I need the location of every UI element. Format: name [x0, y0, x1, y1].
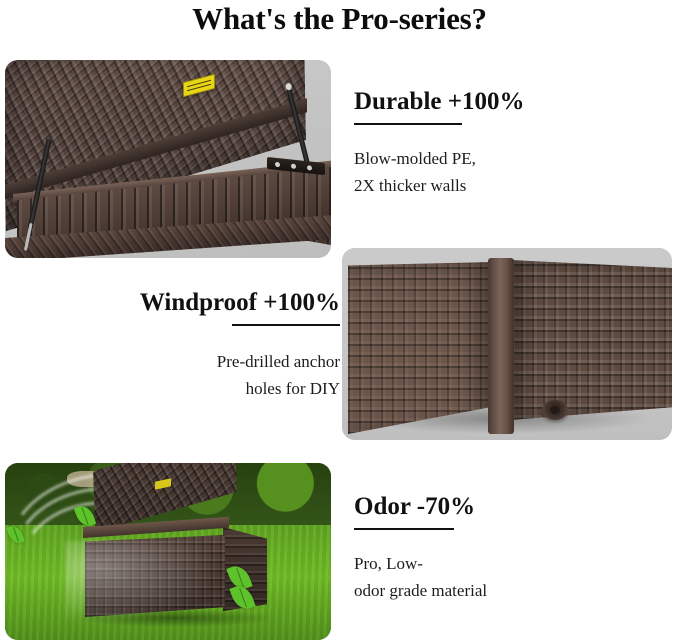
feature-divider	[232, 324, 340, 326]
feature-body-odor: Pro, Low- odor grade material	[354, 550, 674, 604]
hinge-bolt-icon	[291, 163, 296, 169]
page-title: What's the Pro-series?	[0, 1, 679, 37]
feature-block-odor: Odor -70% Pro, Low- odor grade material	[354, 492, 674, 604]
feature-body-durable: Blow-molded PE, 2X thicker walls	[354, 145, 674, 199]
wicker-panel-left	[348, 262, 494, 434]
feature-block-windproof: Windproof +100% Pre-drilled anchor holes…	[14, 288, 340, 402]
feature-heading-windproof: Windproof +100%	[14, 288, 340, 318]
feature-block-durable: Durable +100% Blow-molded PE, 2X thicker…	[354, 87, 674, 199]
product-photo-wicker-corner	[342, 248, 672, 440]
feature-heading-odor: Odor -70%	[354, 492, 674, 522]
product-photo-open-deck-box	[5, 60, 331, 258]
feature-body-windproof: Pre-drilled anchor holes for DIY	[14, 348, 340, 402]
feature-divider	[354, 528, 454, 530]
product-photo-lawn-deck-box	[5, 463, 331, 640]
hinge-bolt-icon	[275, 162, 280, 168]
corner-rib	[488, 258, 514, 434]
odor-mist-overlay	[65, 541, 235, 633]
wicker-panel-right	[510, 260, 672, 420]
feature-divider	[354, 123, 462, 125]
hinge-bolt-icon	[307, 165, 312, 171]
feature-heading-durable: Durable +100%	[354, 87, 674, 117]
anchor-hole-icon	[542, 400, 568, 420]
